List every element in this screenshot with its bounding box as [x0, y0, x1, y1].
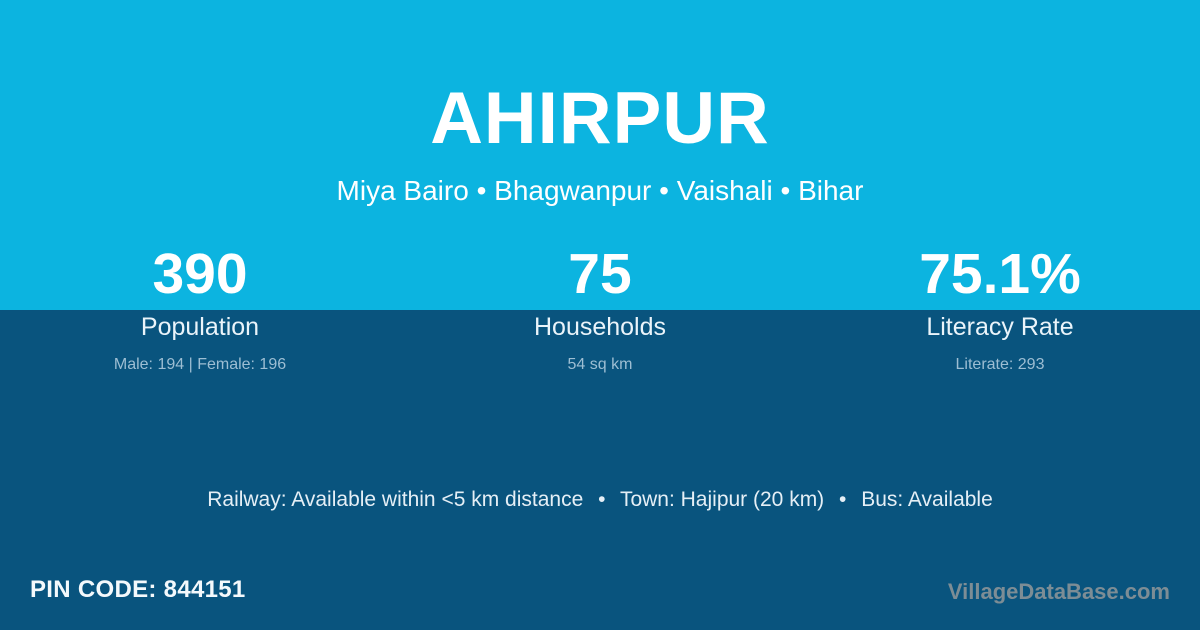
infrastructure-railway: Railway: Available within <5 km distance: [207, 488, 583, 511]
village-location-breadcrumb: Miya Bairo • Bhagwanpur • Vaishali • Bih…: [0, 155, 1200, 205]
stat-population-value: 390: [0, 240, 400, 308]
card-header: AHIRPUR Miya Bairo • Bhagwanpur • Vaisha…: [0, 0, 1200, 205]
stat-population: 390 Population Male: 194 | Female: 196: [0, 240, 400, 375]
site-brand-watermark: VillageDataBase.com: [948, 577, 1170, 607]
stat-literacy-rate: 75.1% Literacy Rate Literate: 293: [800, 240, 1200, 375]
infrastructure-bus: Bus: Available: [861, 488, 993, 511]
stat-literate-count: Literate: 293: [800, 342, 1200, 375]
stat-households-value: 75: [400, 240, 800, 308]
statistics-row: 390 Population Male: 194 | Female: 196 7…: [0, 240, 1200, 375]
stat-households-area: 54 sq km: [400, 342, 800, 375]
stat-literacy-rate-value: 75.1%: [800, 240, 1200, 308]
infrastructure-town: Town: Hajipur (20 km): [620, 488, 824, 511]
pin-code-label: PIN CODE: 844151: [30, 575, 246, 605]
card-footer: PIN CODE: 844151 VillageDataBase.com: [0, 570, 1200, 630]
infrastructure-line: Railway: Available within <5 km distance…: [0, 485, 1200, 515]
infrastructure-separator-2: •: [830, 488, 855, 511]
stat-households-label: Households: [400, 308, 800, 342]
village-info-card: AHIRPUR Miya Bairo • Bhagwanpur • Vaisha…: [0, 0, 1200, 630]
stat-literacy-rate-label: Literacy Rate: [800, 308, 1200, 342]
village-name-title: AHIRPUR: [0, 0, 1200, 155]
stat-population-label: Population: [0, 308, 400, 342]
stat-households: 75 Households 54 sq km: [400, 240, 800, 375]
infrastructure-separator-1: •: [589, 488, 614, 511]
stat-population-breakdown: Male: 194 | Female: 196: [0, 342, 400, 375]
